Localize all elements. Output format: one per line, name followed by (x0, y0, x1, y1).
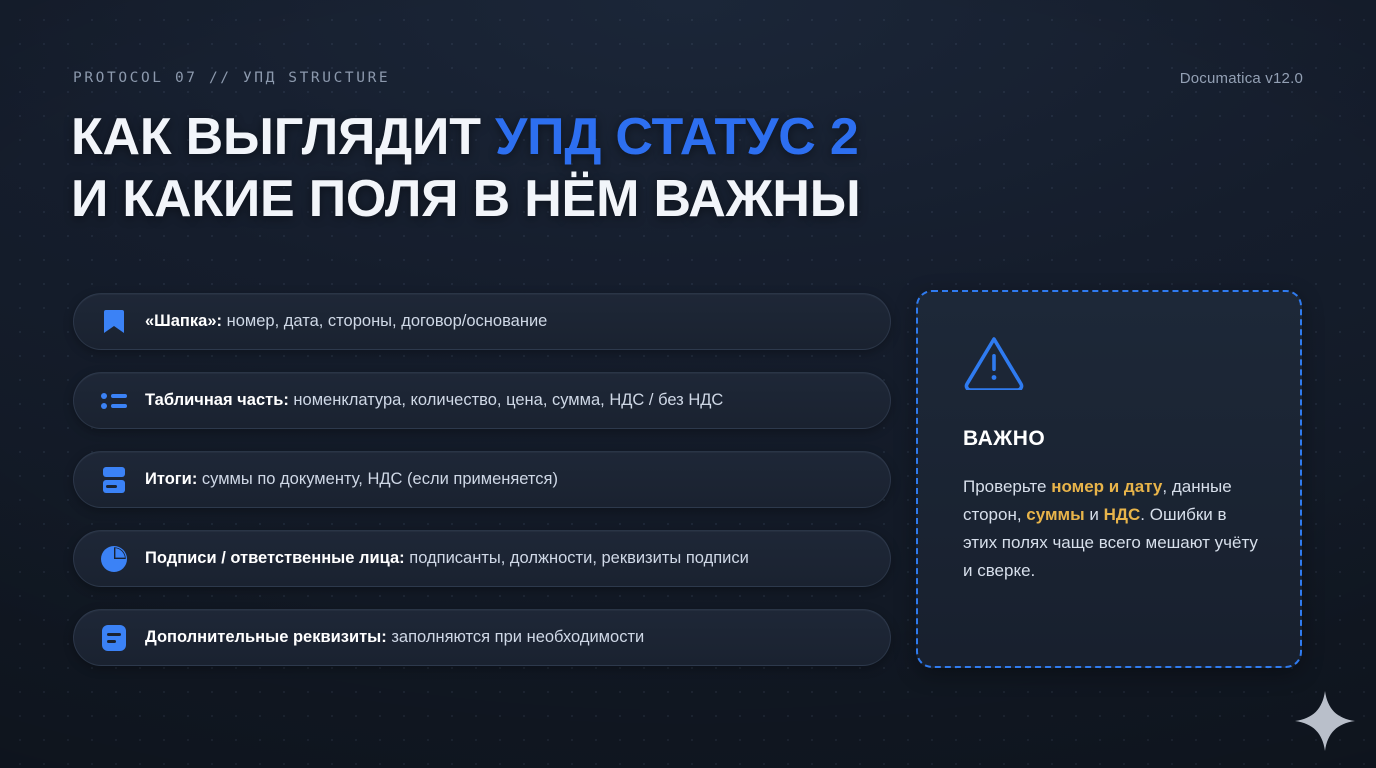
callout-highlight: суммы (1026, 505, 1084, 524)
callout-text: Проверьте (963, 477, 1051, 496)
version-label: Documatica v12.0 (1180, 70, 1303, 87)
bookmark-icon (100, 308, 128, 336)
page-title: КАК ВЫГЛЯДИТ УПД СТАТУС 2 И КАКИЕ ПОЛЯ В… (71, 106, 971, 230)
title-line-2: И КАКИЕ ПОЛЯ В НЁМ ВАЖНЫ (71, 168, 971, 230)
warning-triangle-icon (963, 334, 1262, 395)
list-item[interactable]: Дополнительные реквизиты: заполняются пр… (73, 609, 891, 666)
callout-heading: ВАЖНО (963, 427, 1262, 451)
eyebrow-label: PROTOCOL 07 // УПД STRUCTURE (73, 70, 390, 86)
list-item[interactable]: «Шапка»: номер, дата, стороны, договор/о… (73, 293, 891, 350)
sparkle-icon (1294, 690, 1356, 757)
list-item-text: Табличная часть: номенклатура, количеств… (145, 391, 723, 411)
list-item-text: Подписи / ответственные лица: подписанты… (145, 549, 749, 569)
list-item-label: Подписи / ответственные лица: (145, 549, 405, 567)
list-item-text: Итоги: суммы по документу, НДС (если при… (145, 470, 558, 490)
title-plain: КАК ВЫГЛЯДИТ (71, 108, 495, 166)
list-item-text: «Шапка»: номер, дата, стороны, договор/о… (145, 312, 547, 332)
callout-text: и (1085, 505, 1104, 524)
list-item-label: Табличная часть: (145, 391, 289, 409)
note-card-icon (100, 624, 128, 652)
list-item-detail: подписанты, должности, реквизиты подписи (405, 549, 749, 567)
pie-chart-icon (100, 545, 128, 573)
title-line-1: КАК ВЫГЛЯДИТ УПД СТАТУС 2 (71, 106, 971, 168)
callout-highlight: НДС (1104, 505, 1141, 524)
list-item-text: Дополнительные реквизиты: заполняются пр… (145, 628, 644, 648)
field-list: «Шапка»: номер, дата, стороны, договор/о… (73, 293, 891, 666)
list-item-label: Итоги: (145, 470, 197, 488)
list-item-label: Дополнительные реквизиты: (145, 628, 387, 646)
list-item-detail: номенклатура, количество, цена, сумма, Н… (289, 391, 724, 409)
bullet-list-icon (100, 387, 128, 415)
list-item-detail: суммы по документу, НДС (если применяетс… (197, 470, 558, 488)
list-item[interactable]: Подписи / ответственные лица: подписанты… (73, 530, 891, 587)
important-callout-panel: ВАЖНО Проверьте номер и дату, данные сто… (916, 290, 1302, 668)
title-accent: УПД СТАТУС 2 (495, 108, 859, 166)
list-item-label: «Шапка»: (145, 312, 222, 330)
list-item[interactable]: Табличная часть: номенклатура, количеств… (73, 372, 891, 429)
list-item-detail: номер, дата, стороны, договор/основание (222, 312, 547, 330)
list-item-detail: заполняются при необходимости (387, 628, 644, 646)
callout-highlight: номер и дату (1051, 477, 1162, 496)
list-item[interactable]: Итоги: суммы по документу, НДС (если при… (73, 451, 891, 508)
callout-body: Проверьте номер и дату, данные сторон, с… (963, 473, 1262, 585)
totals-stack-icon (100, 466, 128, 494)
slide-canvas: PROTOCOL 07 // УПД STRUCTURE Documatica … (0, 0, 1376, 768)
